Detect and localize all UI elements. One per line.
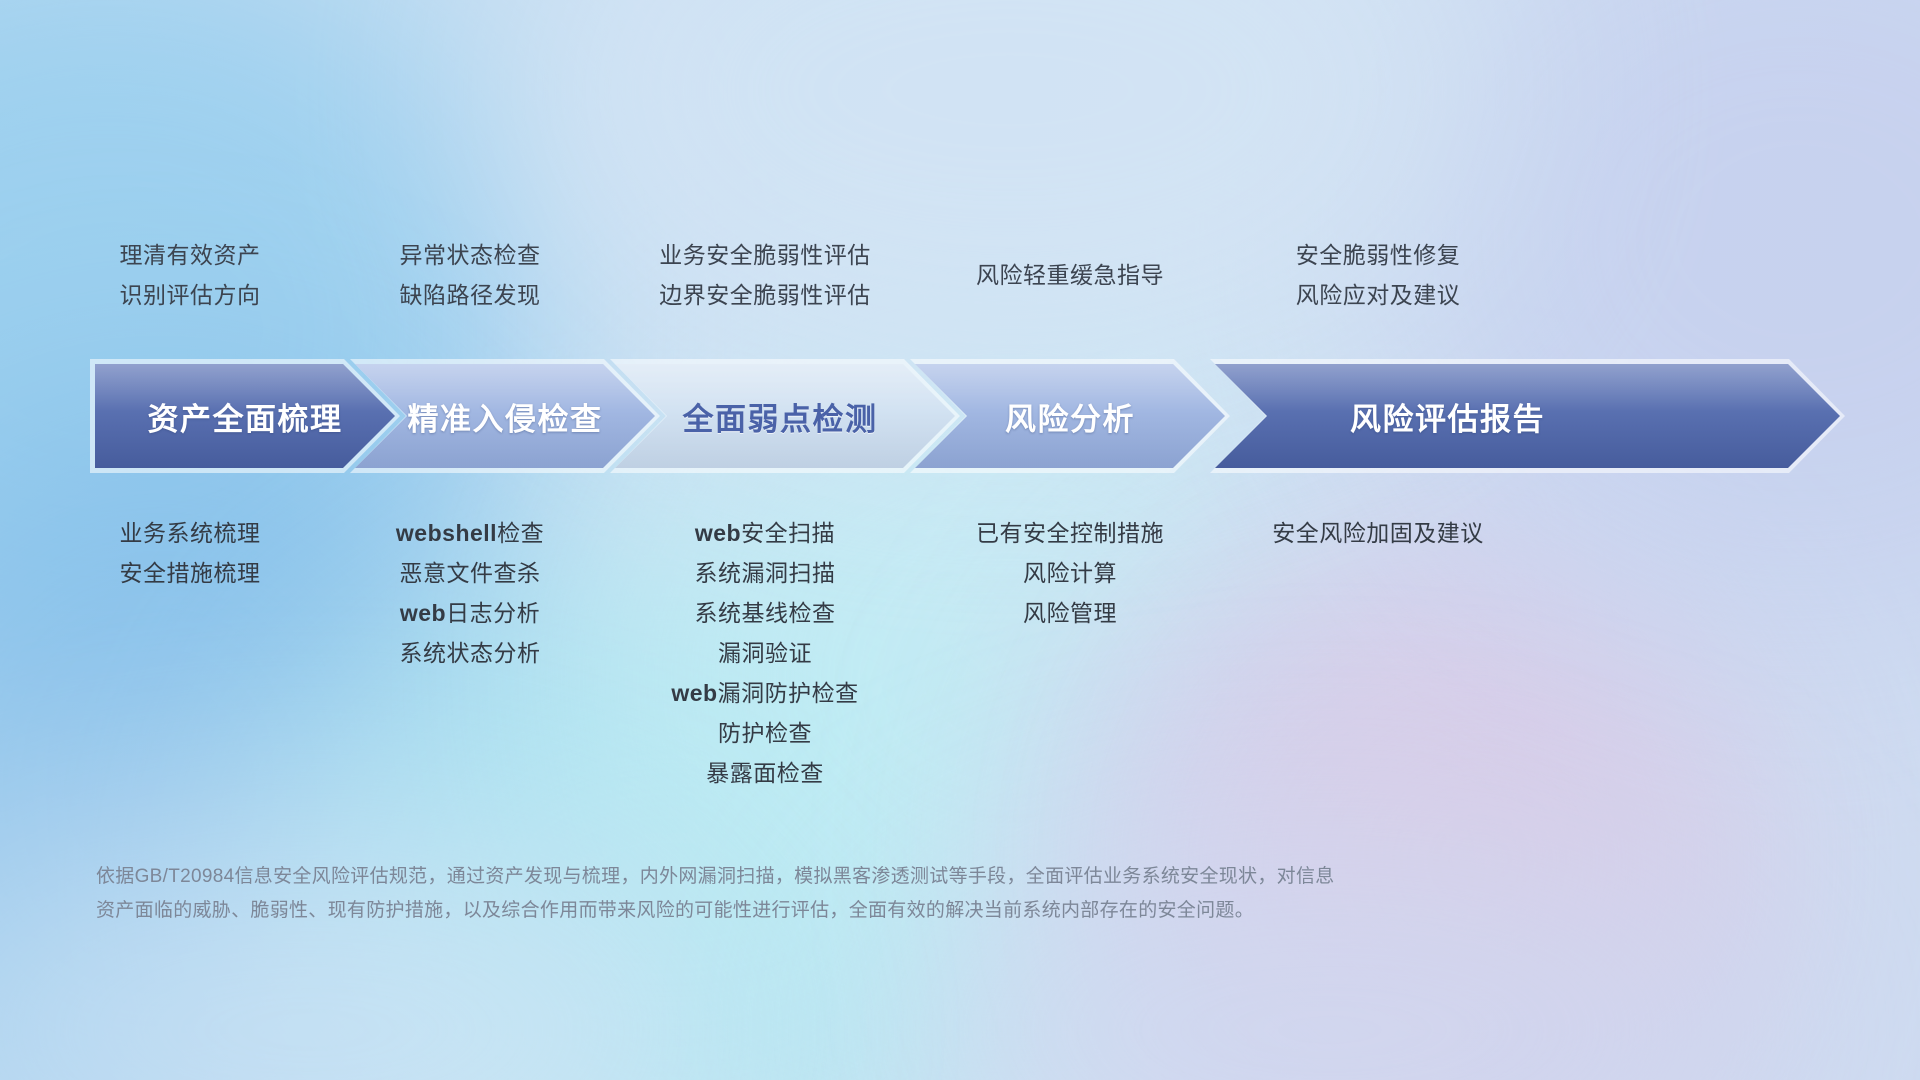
process-chevron-banner: 资产全面梳理精准入侵检查全面弱点检测风险分析风险评估报告	[0, 364, 1920, 468]
activity-item: 风险计算	[820, 553, 1320, 593]
activity-item-prefix: webshell	[396, 520, 497, 546]
chevron-stage-weakness-detection[interactable]: 全面弱点检测	[615, 364, 955, 468]
footer-note-line-1: 依据GB/T20984信息安全风险评估规范，通过资产发现与梳理，内外网漏洞扫描，…	[96, 860, 1516, 894]
activities-risk-report: 安全风险加固及建议	[1128, 513, 1628, 553]
chevron-stage-intrusion-check[interactable]: 精准入侵检查	[355, 364, 655, 468]
chevron-label-risk-report: 风险评估报告	[1350, 394, 1545, 439]
activity-item: 安全风险加固及建议	[1128, 513, 1628, 553]
activity-item-prefix: web	[671, 680, 717, 706]
activity-item-text: 漏洞防护检查	[718, 680, 859, 706]
activity-item: 暴露面检查	[515, 753, 1015, 793]
chevron-stage-risk-report[interactable]: 风险评估报告	[1215, 364, 1840, 468]
footer-note-line-2: 资产面临的威胁、脆弱性、现有防护措施，以及综合作用而带来风险的可能性进行评估，全…	[96, 894, 1516, 928]
chevron-stage-risk-analysis[interactable]: 风险分析	[915, 364, 1225, 468]
outcome-item: 安全脆弱性修复	[1128, 235, 1628, 275]
activity-item: 漏洞验证	[515, 633, 1015, 673]
activity-item-prefix: web	[695, 520, 741, 546]
infographic-canvas: 理清有效资产识别评估方向异常状态检查缺陷路径发现业务安全脆弱性评估边界安全脆弱性…	[0, 0, 1920, 1080]
chevron-label-risk-analysis: 风险分析	[1005, 394, 1135, 439]
chevron-label-weakness-detection: 全面弱点检测	[683, 394, 878, 439]
activity-item-prefix: web	[400, 600, 446, 626]
footer-note: 依据GB/T20984信息安全风险评估规范，通过资产发现与梳理，内外网漏洞扫描，…	[96, 860, 1516, 928]
activity-item: web漏洞防护检查	[515, 673, 1015, 713]
activity-item: 风险管理	[820, 593, 1320, 633]
chevron-label-intrusion-check: 精准入侵检查	[408, 394, 603, 439]
outcome-item: 风险应对及建议	[1128, 275, 1628, 315]
chevron-stage-asset-inventory[interactable]: 资产全面梳理	[95, 364, 395, 468]
chevron-label-asset-inventory: 资产全面梳理	[148, 394, 343, 439]
activity-item: 防护检查	[515, 713, 1015, 753]
outcomes-risk-report: 安全脆弱性修复风险应对及建议	[1128, 235, 1628, 315]
